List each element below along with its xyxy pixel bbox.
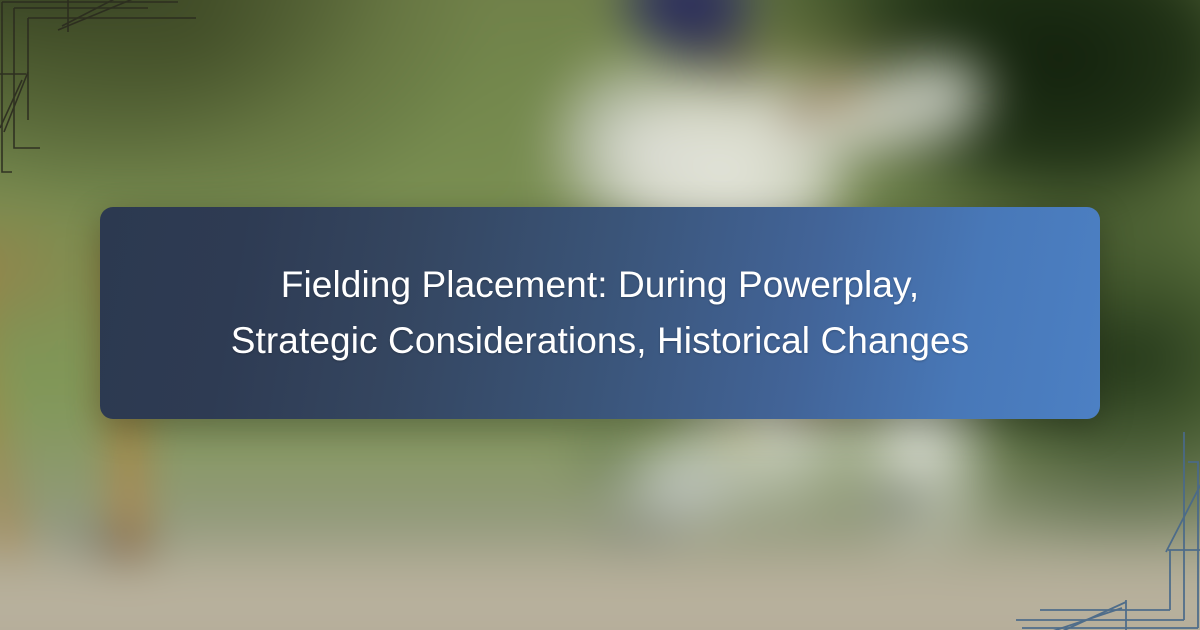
- title-line-1: Fielding Placement: During Powerplay,: [281, 264, 919, 305]
- page-title: Fielding Placement: During Powerplay, St…: [175, 257, 1026, 369]
- title-line-2: Strategic Considerations, Historical Cha…: [231, 320, 970, 361]
- stump-base-shadow: [80, 530, 170, 560]
- title-card: Fielding Placement: During Powerplay, St…: [100, 207, 1100, 419]
- og-banner: Fielding Placement: During Powerplay, St…: [0, 0, 1200, 630]
